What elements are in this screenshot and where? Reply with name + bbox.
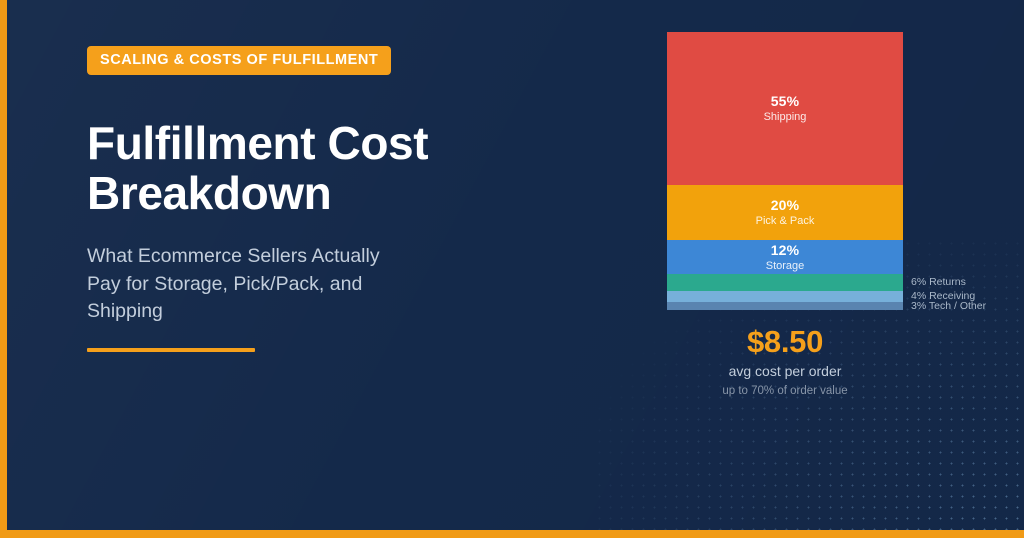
segment-percent: 20% xyxy=(771,197,800,213)
segment-label: Shipping xyxy=(764,110,807,124)
kpi-block: $8.50 avg cost per order up to 70% of or… xyxy=(667,325,903,398)
segment-label: Pick & Pack xyxy=(756,214,815,228)
page-title: Fulfillment Cost Breakdown xyxy=(87,118,517,218)
segment-percent: 55% xyxy=(771,93,800,109)
stacked-bar-chart: 55%Shipping20%Pick & Pack12%Storage6% Re… xyxy=(667,32,903,310)
left-content-column: SCALING & COSTS OF FULFILLMENT Fulfillme… xyxy=(87,46,627,352)
kpi-note: up to 70% of order value xyxy=(667,384,903,398)
accent-bar-bottom xyxy=(0,530,1024,538)
bar-segment-tech-other xyxy=(667,302,903,310)
kpi-value: $8.50 xyxy=(667,325,903,359)
segment-callout-tech-other: 3% Tech / Other xyxy=(911,300,986,312)
kpi-label: avg cost per order xyxy=(667,363,903,380)
accent-bar-left xyxy=(0,0,7,538)
bar-segment-storage: 12%Storage xyxy=(667,240,903,273)
page-subtitle: What Ecommerce Sellers Actually Pay for … xyxy=(87,243,387,326)
bar-segment-pick-pack: 20%Pick & Pack xyxy=(667,185,903,241)
chart-column: 55%Shipping20%Pick & Pack12%Storage6% Re… xyxy=(667,32,1007,310)
bar-segment-receiving xyxy=(667,291,903,302)
bar-segment-returns xyxy=(667,274,903,291)
segment-percent: 12% xyxy=(771,242,800,258)
eyebrow-badge: SCALING & COSTS OF FULFILLMENT xyxy=(87,46,391,75)
segment-label: Storage xyxy=(766,259,805,273)
accent-rule xyxy=(87,348,255,353)
infographic-slide: SCALING & COSTS OF FULFILLMENT Fulfillme… xyxy=(0,0,1024,538)
bar-segment-shipping: 55%Shipping xyxy=(667,32,903,185)
segment-callout-returns: 6% Returns xyxy=(911,276,966,288)
